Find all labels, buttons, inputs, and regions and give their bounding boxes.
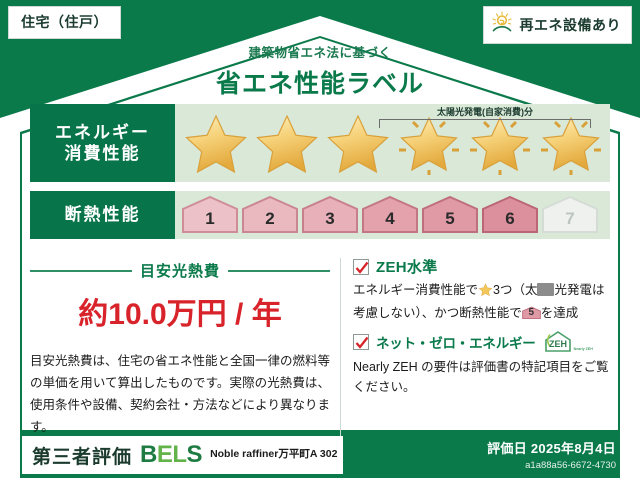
checkbox-checked[interactable]	[353, 334, 369, 350]
solar-bracket	[379, 119, 591, 128]
svg-text:ZEH: ZEH	[549, 339, 567, 349]
zeh-level-item: ZEH水準 エネルギー消費性能で3つ（太光発電は考慮しない）、かつ断熱性能で5を…	[353, 256, 614, 324]
sun-icon	[490, 11, 514, 38]
zeh-column: ZEH水準 エネルギー消費性能で3つ（太光発電は考慮しない）、かつ断熱性能で5を…	[351, 256, 614, 439]
zeh-body-star-text: 3つ（太	[493, 283, 537, 297]
insulation-level-scale: 1 2 3 4 5	[175, 191, 610, 239]
net-zero-energy-item: ネット・ゼロ・エネルギー ZEH Nearly ZEH Nearly ZEH の…	[353, 330, 614, 398]
insulation-level-number: 4	[385, 209, 394, 234]
house-type-badge: 住宅（住戸）	[8, 6, 121, 39]
zeh-house-logo-icon: ZEH Nearly ZEH	[543, 330, 593, 354]
zeh-body-part1: エネルギー消費性能で	[353, 283, 478, 297]
utility-cost-heading: 目安光熱費	[30, 260, 330, 281]
insulation-level-number: 2	[265, 209, 274, 234]
zeh-body-part3: を達成	[541, 306, 579, 320]
net-zero-energy-header: ネット・ゼロ・エネルギー ZEH Nearly ZEH	[353, 330, 614, 354]
utility-cost-title: 目安光熱費	[140, 260, 220, 281]
zeh-level-title: ZEH水準	[376, 256, 438, 277]
star-icon	[181, 108, 251, 178]
evaluation-id: a1a88a56-6672-4730	[487, 460, 616, 471]
title-subtitle: 建築物省エネ法に基づく	[0, 42, 640, 61]
redaction-box	[537, 283, 554, 296]
bels-logo-box: 第三者評価 BELS	[22, 436, 210, 474]
building-name: Noble raffiner万平町A 302	[210, 448, 343, 462]
zeh-level-header: ZEH水準	[353, 256, 614, 277]
utility-cost-column: 目安光熱費 約10.0万円 / 年 目安光熱費は、住宅の省エネ性能と全国一律の燃…	[30, 256, 340, 439]
insulation-level-badge: 5	[421, 196, 479, 234]
energy-key-line1: エネルギー	[55, 122, 150, 143]
zeh-level-body: エネルギー消費性能で3つ（太光発電は考慮しない）、かつ断熱性能で5を達成	[353, 280, 614, 324]
insulation-level-badge: 1	[181, 196, 239, 234]
energy-key-line2: 消費性能	[65, 143, 141, 164]
energy-performance-value: 太陽光発電(自家消費)分	[175, 104, 610, 182]
utility-cost-note: 目安光熱費は、住宅の省エネ性能と全国一律の燃料等の単価を用いて算出したものです。…	[30, 351, 330, 439]
column-divider	[340, 258, 341, 439]
star-icon	[252, 108, 322, 178]
energy-performance-row: エネルギー 消費性能 太陽光発電(自家消費)分	[30, 104, 610, 182]
inline-insulation-number: 5	[522, 305, 541, 321]
title-main: 省エネ性能ラベル	[0, 64, 640, 100]
insulation-performance-value: 1 2 3 4 5	[175, 191, 610, 239]
details-columns: 目安光熱費 約10.0万円 / 年 目安光熱費は、住宅の省エネ性能と全国一律の燃…	[30, 256, 614, 439]
checkbox-checked[interactable]	[353, 259, 369, 275]
insulation-level-badge: 4	[361, 196, 419, 234]
third-party-label: 第三者評価	[32, 442, 132, 469]
label-footer: 第三者評価 BELS Noble raffiner万平町A 302 評価日 20…	[0, 430, 640, 478]
bels-certification: 第三者評価 BELS Noble raffiner万平町A 302	[22, 436, 343, 474]
insulation-performance-row: 断熱性能 1 2 3	[30, 191, 610, 239]
energy-performance-key: エネルギー 消費性能	[30, 104, 175, 182]
inline-insulation-badge: 5	[522, 305, 541, 321]
rule-left	[30, 270, 132, 272]
label-title: 建築物省エネ法に基づく 省エネ性能ラベル	[0, 42, 640, 100]
insulation-level-number: 5	[445, 209, 454, 234]
insulation-level-badge-inactive: 7	[541, 196, 599, 234]
net-zero-energy-body: Nearly ZEH の要件は評価書の特記項目をご覧ください。	[353, 357, 614, 398]
inline-star-icon	[478, 282, 493, 303]
evaluation-date: 評価日 2025年8月4日	[487, 438, 616, 457]
energy-performance-label: 住宅（住戸） 再エネ設備あり 建築物省エネ法に基づく	[0, 0, 640, 478]
insulation-level-number: 1	[205, 209, 214, 234]
insulation-level-number: 3	[325, 209, 334, 234]
insulation-level-badge: 2	[241, 196, 299, 234]
renewable-equipment-badge: 再エネ設備あり	[483, 6, 633, 44]
solar-annotation: 太陽光発電(自家消費)分	[379, 105, 591, 128]
insulation-level-number: 7	[565, 209, 574, 234]
insulation-level-number: 6	[505, 209, 514, 234]
insulation-level-badge: 6	[481, 196, 539, 234]
zeh-logo-subtext: Nearly ZEH	[574, 347, 593, 353]
bels-wordmark: BELS	[140, 441, 202, 469]
net-zero-energy-title: ネット・ゼロ・エネルギー	[376, 332, 536, 352]
performance-section: エネルギー 消費性能 太陽光発電(自家消費)分	[30, 104, 610, 248]
solar-caption: 太陽光発電(自家消費)分	[379, 105, 591, 118]
house-type-label: 住宅（住戸）	[21, 14, 108, 30]
insulation-performance-key: 断熱性能	[30, 191, 175, 239]
renewable-equipment-label: 再エネ設備あり	[520, 15, 622, 35]
rule-right	[228, 270, 330, 272]
evaluation-info: 評価日 2025年8月4日 a1a88a56-6672-4730	[487, 438, 616, 471]
insulation-level-badge: 3	[301, 196, 359, 234]
utility-cost-value: 約10.0万円 / 年	[30, 289, 330, 333]
